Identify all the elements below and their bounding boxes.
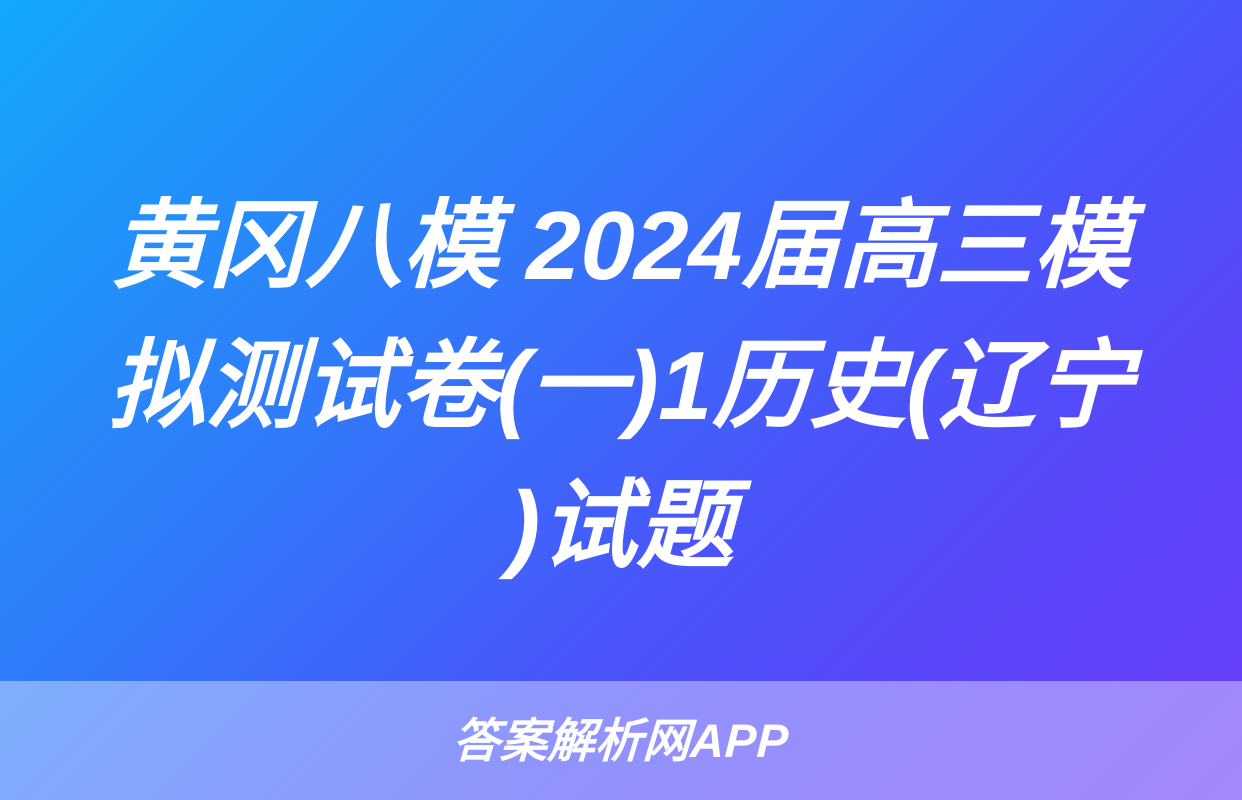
poster-title: 黄冈八模 2024届高三模 拟测试卷(一)1历史(辽宁 )试题 bbox=[0, 176, 1242, 596]
poster-canvas: 黄冈八模 2024届高三模 拟测试卷(一)1历史(辽宁 )试题 答案解析网APP bbox=[0, 0, 1242, 800]
footer-watermark-band: 答案解析网APP bbox=[0, 681, 1242, 800]
title-line-1: 黄冈八模 2024届高三模 bbox=[61, 176, 1181, 316]
title-line-2: 拟测试卷(一)1历史(辽宁 bbox=[61, 316, 1181, 456]
title-line-3: )试题 bbox=[61, 456, 1181, 596]
app-brand-label: 答案解析网APP bbox=[452, 714, 790, 768]
